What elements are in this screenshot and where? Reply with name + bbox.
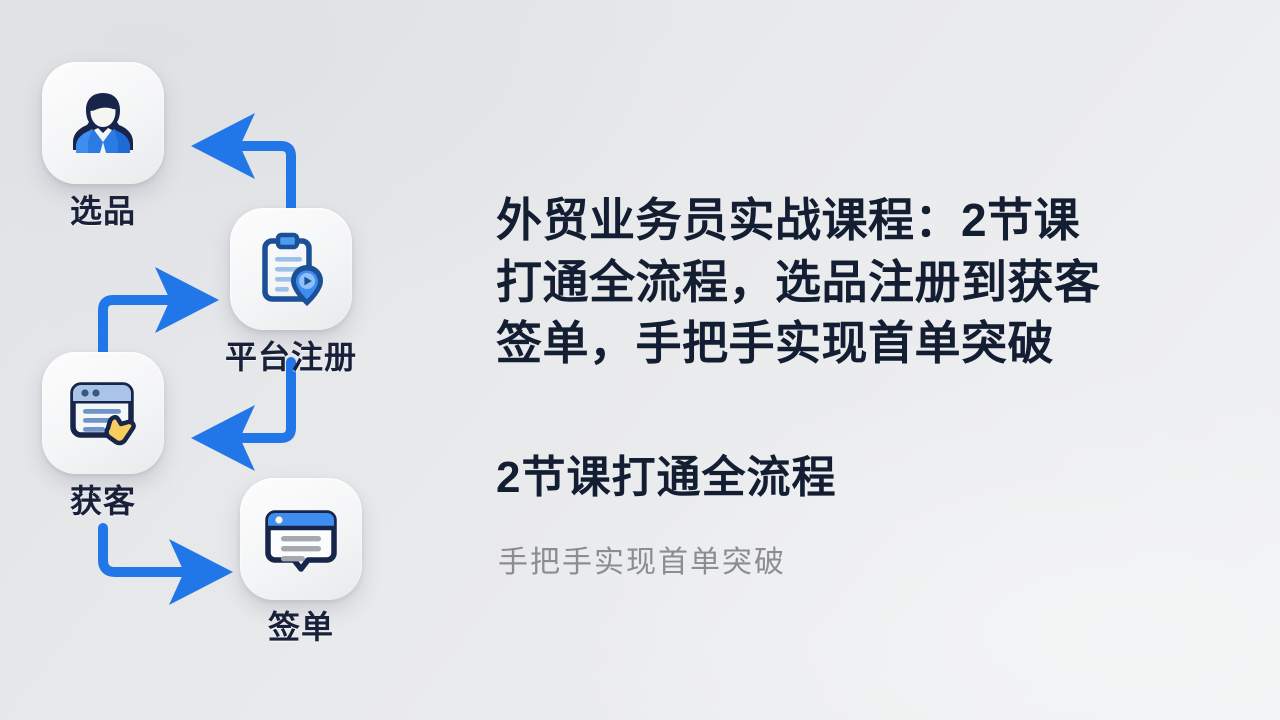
node-zhuce[interactable]: 平台注册 [218,208,364,373]
arrow-huoke-to-zhuce [103,300,176,352]
node-qiandan[interactable]: 签单 [228,478,374,643]
clipboard-pin-icon-tile [230,208,352,330]
clipboard-pin-icon [251,229,331,309]
speech-bubble-icon [261,499,341,579]
headline-line-3: 签单，手把手实现首单突破 [496,313,1236,375]
headline: 外贸业务员实战课程：2节课 打通全流程，选品注册到获客 签单，手把手实现首单突破 [496,190,1236,375]
text-panel: 外贸业务员实战课程：2节课 打通全流程，选品注册到获客 签单，手把手实现首单突破… [496,0,1266,720]
headline-line-2: 打通全流程，选品注册到获客 [496,252,1236,314]
browser-click-icon [63,373,143,453]
poster-canvas: 选品 平台注册 [0,0,1280,720]
node-xuanpin[interactable]: 选品 [30,62,176,227]
node-label-huoke: 获客 [70,485,136,517]
businessman-icon [63,83,143,163]
process-flow-diagram: 选品 平台注册 [0,0,520,720]
arrow-zhuce-to-xuanpin [234,146,291,208]
tagline: 手把手实现首单突破 [498,545,786,581]
node-label-qiandan: 签单 [268,611,334,643]
headline-line-1: 外贸业务员实战课程：2节课 [496,190,1236,252]
businessman-icon-tile [42,62,164,184]
browser-click-icon-tile [42,352,164,474]
node-label-zhuce: 平台注册 [225,341,357,373]
subheadline: 2节课打通全流程 [496,452,836,505]
speech-bubble-icon-tile [240,478,362,600]
arrow-huoke-to-qiandan [103,528,190,572]
node-label-xuanpin: 选品 [70,195,136,227]
node-huoke[interactable]: 获客 [30,352,176,517]
